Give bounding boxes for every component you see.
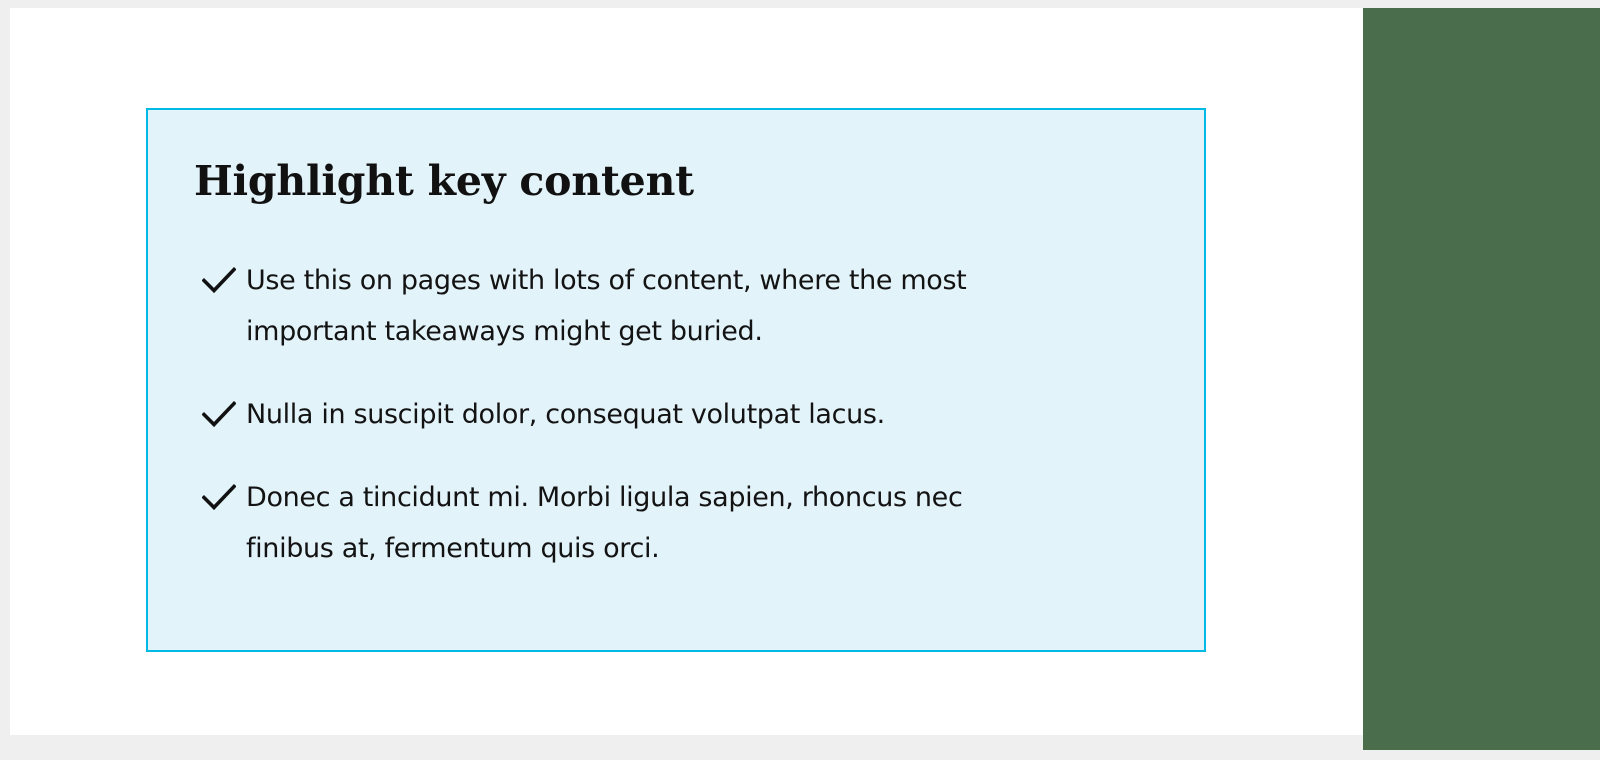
check-icon: [202, 471, 246, 522]
page-bottom-gutter: [0, 735, 1363, 760]
callout-content: Highlight key content Use this on pages …: [148, 110, 1204, 574]
slide-surface: Highlight key content Use this on pages …: [10, 8, 1363, 735]
check-icon: [202, 388, 246, 439]
list-item-label: Use this on pages with lots of content, …: [246, 255, 1046, 357]
page-top-gutter: [0, 0, 1600, 8]
list-item: Use this on pages with lots of content, …: [202, 255, 1158, 357]
page-left-gutter: [0, 0, 10, 760]
list-item-label: Donec a tincidunt mi. Morbi ligula sapie…: [246, 472, 1046, 574]
list-item: Nulla in suscipit dolor, consequat volut…: [202, 389, 1158, 440]
check-icon: [202, 254, 246, 305]
backdrop-panel: [1363, 8, 1600, 750]
list-item: Donec a tincidunt mi. Morbi ligula sapie…: [202, 472, 1158, 574]
backdrop-bottom-gutter: [1363, 750, 1600, 760]
callout-heading: Highlight key content: [194, 160, 1158, 203]
callout-bullet-list: Use this on pages with lots of content, …: [194, 255, 1158, 574]
list-item-label: Nulla in suscipit dolor, consequat volut…: [246, 389, 885, 440]
slide-stage: Highlight key content Use this on pages …: [0, 0, 1600, 760]
highlight-callout-box: Highlight key content Use this on pages …: [146, 108, 1206, 652]
